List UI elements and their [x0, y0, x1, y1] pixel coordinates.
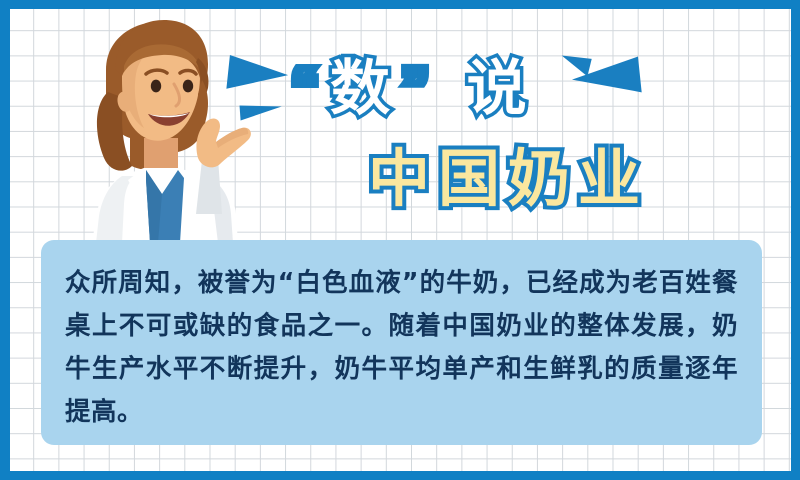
title-open-quote: “ [290, 55, 330, 122]
title-line-2: 中国奶业 [368, 128, 648, 218]
title-close-quote: ” [400, 55, 440, 122]
intro-text-panel: 众所周知，被誉为“白色血液”的牛奶，已经成为老百姓餐桌上不可或缺的食品之一。随着… [41, 240, 762, 445]
intro-paragraph: 众所周知，被誉为“白色血液”的牛奶，已经成为老百姓餐桌上不可或缺的食品之一。随着… [65, 262, 738, 434]
title-line-1: “数” 说 [290, 40, 537, 127]
infographic-poster: “数” 说 中国奶业 众所周知，被誉为“白色血液”的牛奶，已经成为老百姓餐桌上不… [0, 0, 800, 480]
title-verb: 说 [467, 55, 537, 122]
title-keyword: 数 [330, 55, 400, 122]
poster-title: “数” 说 中国奶业 [230, 38, 700, 228]
